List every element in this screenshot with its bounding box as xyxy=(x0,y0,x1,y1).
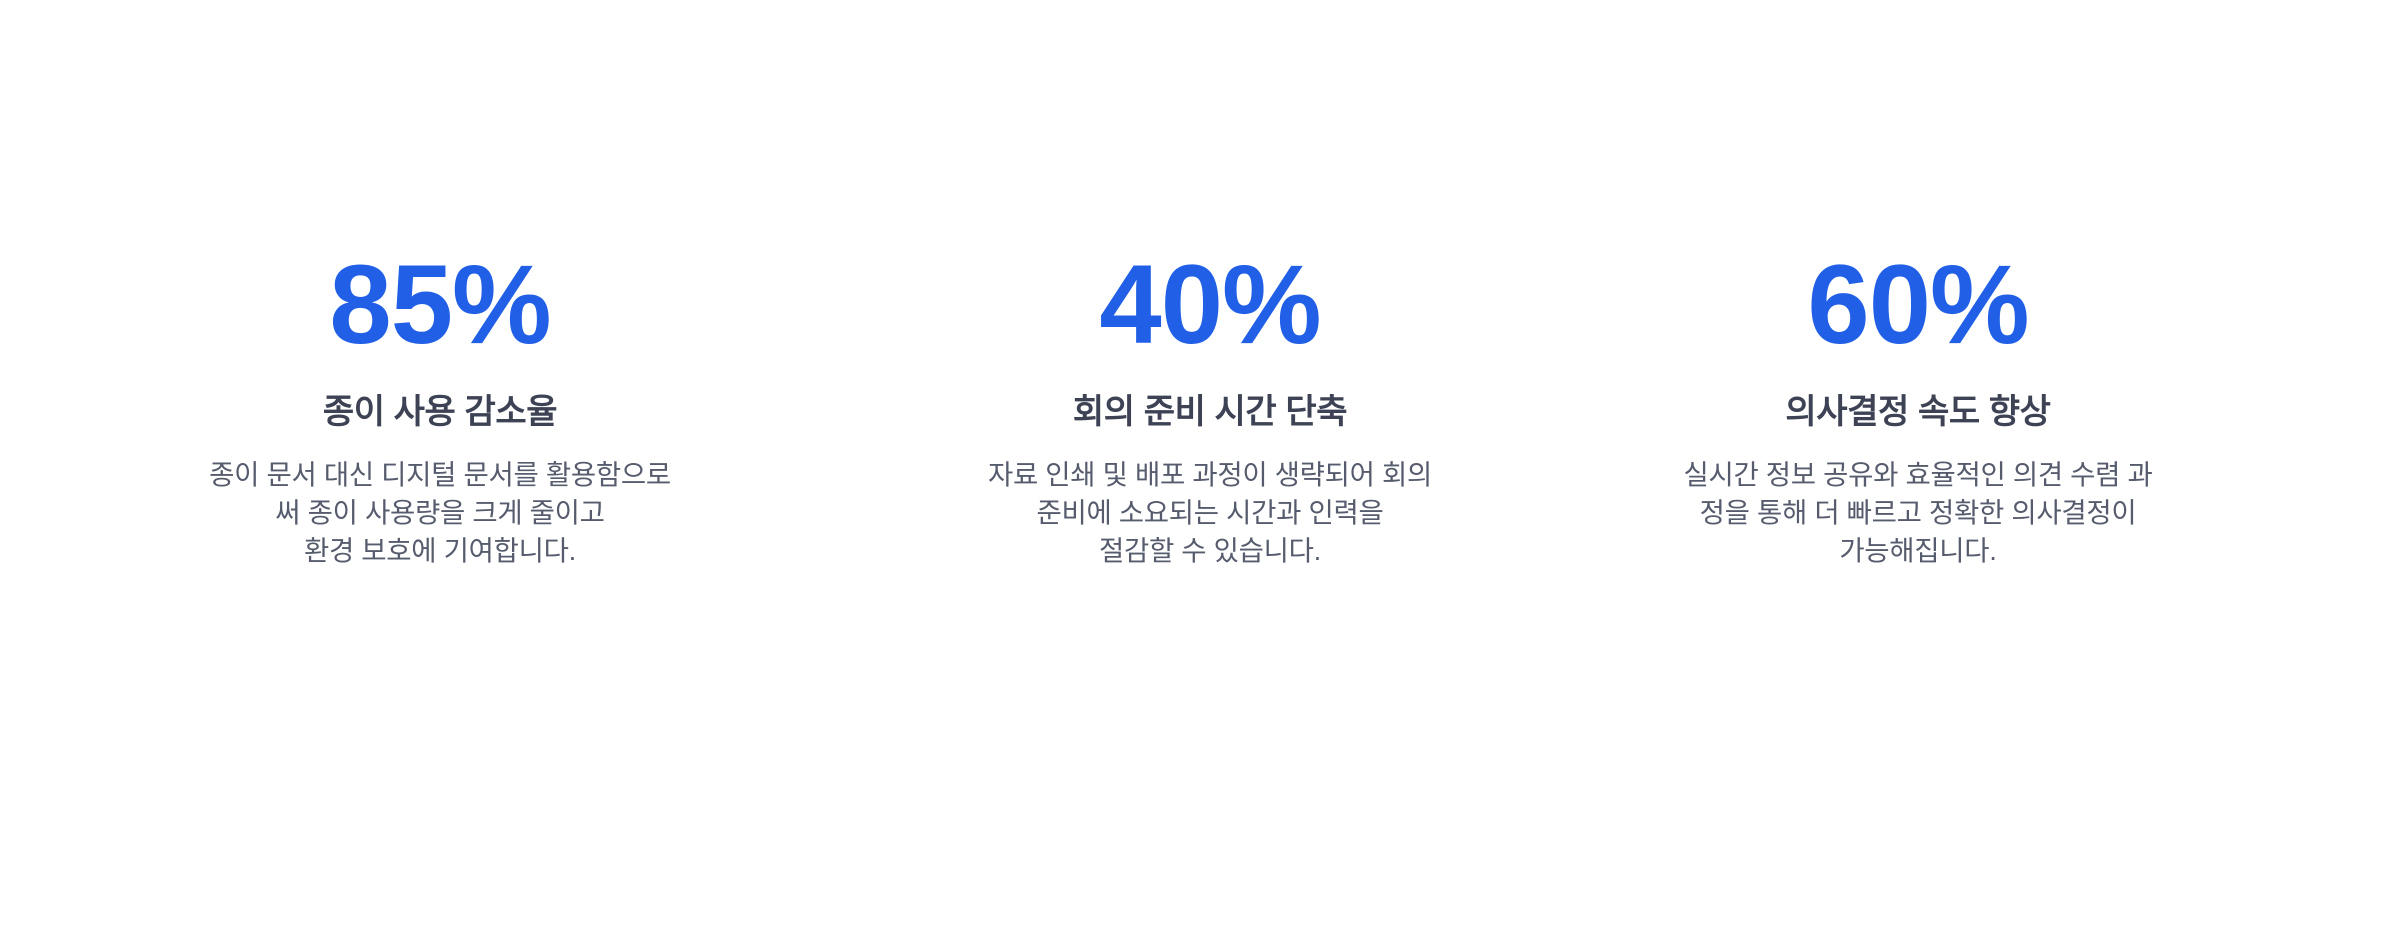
stat-value: 40% xyxy=(1099,248,1320,362)
stat-value: 60% xyxy=(1807,248,2028,362)
stat-description: 실시간 정보 공유와 효율적인 의견 수렴 과 정을 통해 더 빠르고 정확한 … xyxy=(1683,434,2152,570)
stat-description-line: 준비에 소요되는 시간과 인력을 xyxy=(988,494,1432,532)
stat-description: 종이 문서 대신 디지털 문서를 활용함으로 써 종이 사용량을 크게 줄이고 … xyxy=(209,434,671,570)
stat-description-line: 실시간 정보 공유와 효율적인 의견 수렴 과 xyxy=(1683,456,2152,494)
stat-description-line: 가능해집니다. xyxy=(1683,532,2152,570)
stat-description-line: 자료 인쇄 및 배포 과정이 생략되어 회의 xyxy=(988,456,1432,494)
stats-section: 85% 종이 사용 감소율 종이 문서 대신 디지털 문서를 활용함으로 써 종… xyxy=(0,0,2400,938)
stat-title: 종이 사용 감소율 xyxy=(323,362,557,434)
stat-description: 자료 인쇄 및 배포 과정이 생략되어 회의 준비에 소요되는 시간과 인력을 … xyxy=(988,434,1432,570)
stat-card-meeting-prep-time: 40% 회의 준비 시간 단축 자료 인쇄 및 배포 과정이 생략되어 회의 준… xyxy=(880,248,1540,570)
stat-description-line: 종이 문서 대신 디지털 문서를 활용함으로 xyxy=(209,456,671,494)
stat-title: 의사결정 속도 향상 xyxy=(1785,362,2050,434)
stat-value: 85% xyxy=(329,248,550,362)
stat-description-line: 절감할 수 있습니다. xyxy=(988,532,1432,570)
stat-description-line: 써 종이 사용량을 크게 줄이고 xyxy=(209,494,671,532)
stat-card-decision-speed: 60% 의사결정 속도 향상 실시간 정보 공유와 효율적인 의견 수렴 과 정… xyxy=(1540,248,2400,570)
stat-card-paper-reduction: 85% 종이 사용 감소율 종이 문서 대신 디지털 문서를 활용함으로 써 종… xyxy=(0,248,880,570)
stat-title: 회의 준비 시간 단축 xyxy=(1073,362,1347,434)
stat-description-line: 정을 통해 더 빠르고 정확한 의사결정이 xyxy=(1683,494,2152,532)
stat-description-line: 환경 보호에 기여합니다. xyxy=(209,532,671,570)
stats-row: 85% 종이 사용 감소율 종이 문서 대신 디지털 문서를 활용함으로 써 종… xyxy=(0,248,2400,570)
